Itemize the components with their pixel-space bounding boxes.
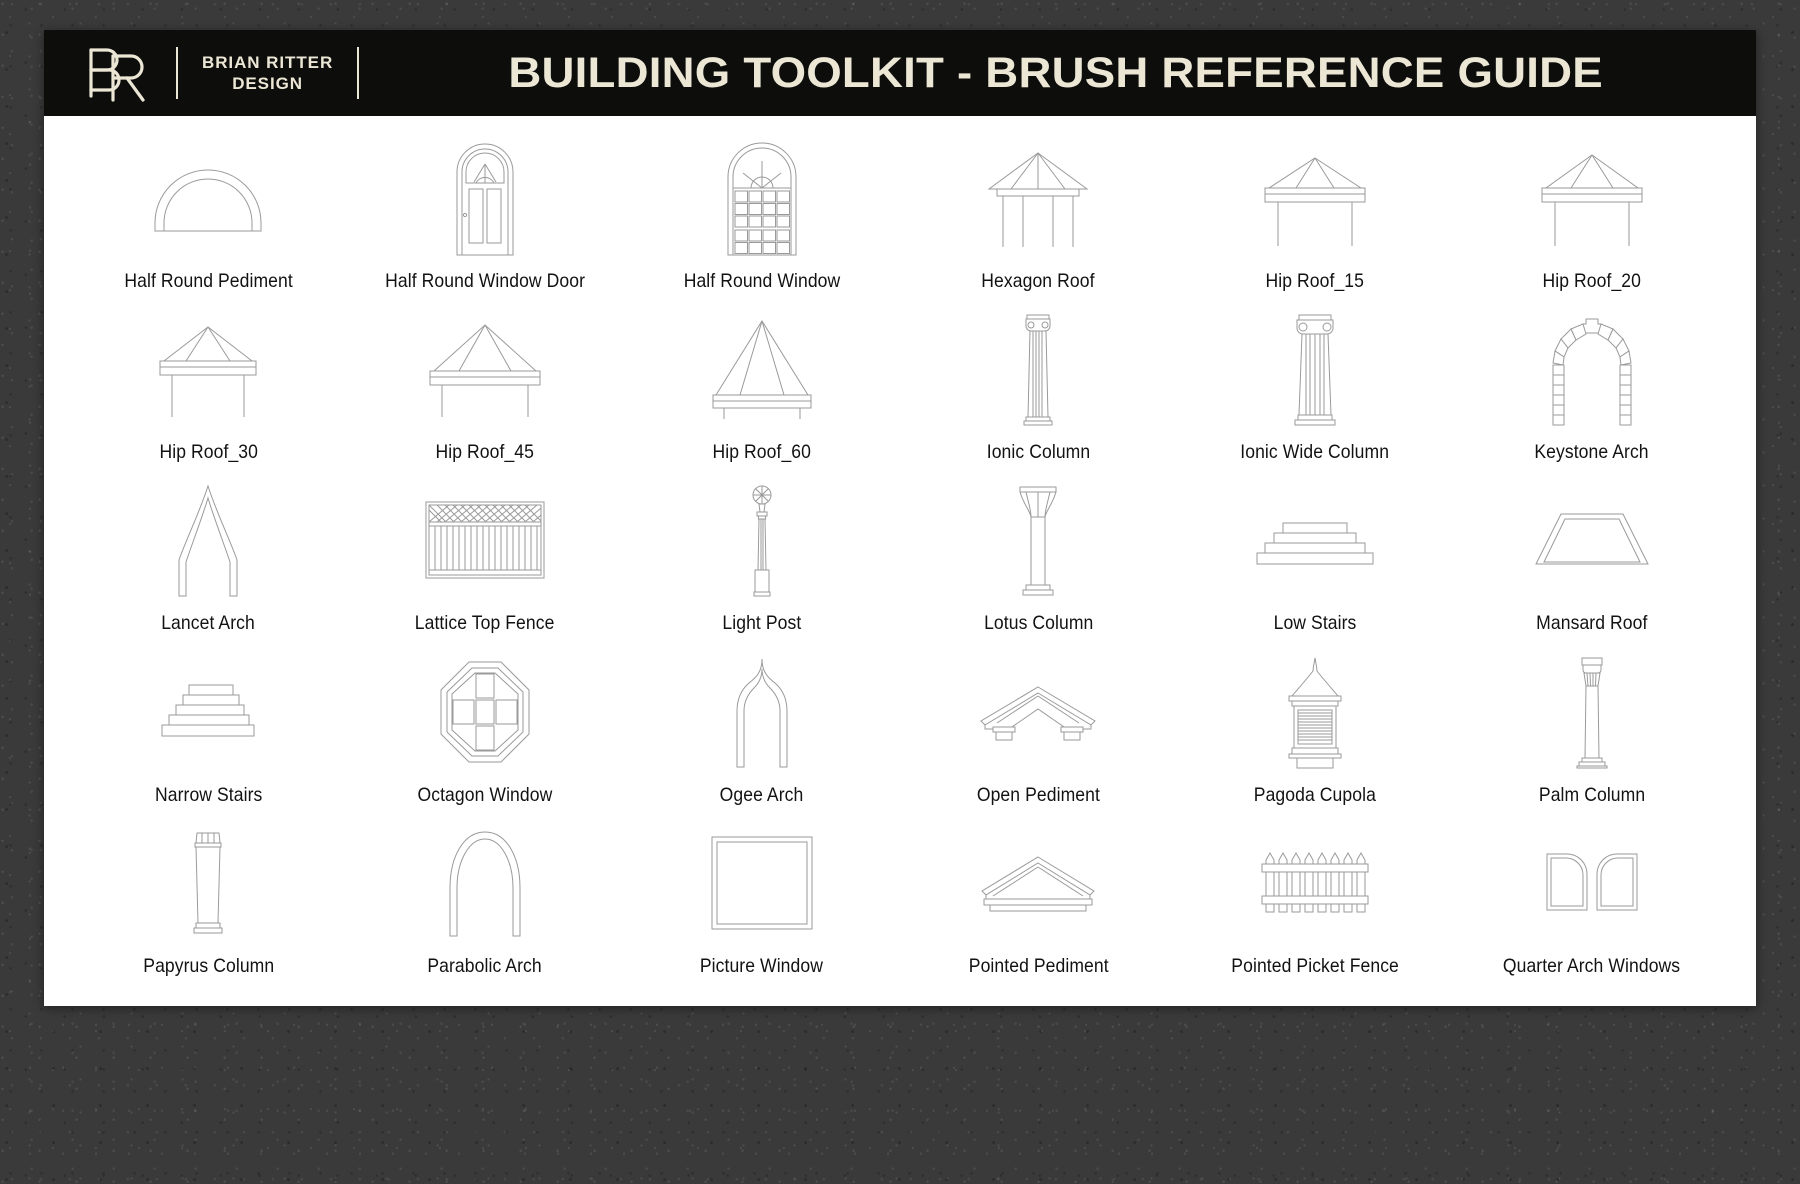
brush-item-mansard-roof[interactable]: Mansard Roof — [1453, 476, 1730, 647]
keystone-arch-icon — [1453, 311, 1730, 427]
brand-line-2: DESIGN — [202, 73, 333, 94]
brush-item-hexagon-roof[interactable]: Hexagon Roof — [900, 134, 1177, 305]
brush-label: Lotus Column — [984, 612, 1093, 635]
brd-monogram-icon — [80, 42, 152, 104]
brush-label: Picture Window — [700, 955, 823, 978]
brush-item-light-post[interactable]: Light Post — [623, 476, 900, 647]
header-bar: BRIAN RITTER DESIGN BUILDING TOOLKIT - B… — [44, 30, 1756, 116]
lotus-column-icon — [900, 482, 1177, 598]
low-stairs-icon — [1177, 482, 1454, 598]
brush-label: Pointed Picket Fence — [1231, 955, 1399, 978]
quarter-arch-windows-icon — [1453, 825, 1730, 941]
brush-label: Hip Roof_15 — [1266, 270, 1365, 293]
brush-item-hip-roof-45[interactable]: Hip Roof_45 — [347, 305, 624, 476]
brush-item-lattice-top-fence[interactable]: Lattice Top Fence — [347, 476, 624, 647]
hip-roof-45-icon — [347, 311, 624, 427]
brush-item-ionic-column[interactable]: Ionic Column — [900, 305, 1177, 476]
half-round-window-icon — [623, 140, 900, 256]
header-divider-1 — [176, 47, 178, 99]
brush-label: Lattice Top Fence — [415, 612, 555, 635]
brush-label: Half Round Window Door — [385, 270, 585, 293]
brush-item-hip-roof-15[interactable]: Hip Roof_15 — [1177, 134, 1454, 305]
brush-label: Quarter Arch Windows — [1503, 955, 1680, 978]
brush-item-octagon-window[interactable]: Octagon Window — [347, 648, 624, 819]
brush-label: Low Stairs — [1274, 612, 1357, 635]
palm-column-icon — [1453, 654, 1730, 770]
brush-item-ogee-arch[interactable]: Ogee Arch — [623, 648, 900, 819]
half-round-window-door-icon — [347, 140, 624, 256]
hip-roof-15-icon — [1177, 140, 1454, 256]
brush-label: Ogee Arch — [720, 784, 804, 807]
brush-item-half-round-window[interactable]: Half Round Window — [623, 134, 900, 305]
reference-sheet: BRIAN RITTER DESIGN BUILDING TOOLKIT - B… — [44, 30, 1756, 1006]
brand-wordmark: BRIAN RITTER DESIGN — [202, 52, 333, 95]
ogee-arch-icon — [623, 654, 900, 770]
brush-label: Ionic Column — [987, 441, 1090, 464]
brush-item-palm-column[interactable]: Palm Column — [1453, 648, 1730, 819]
brush-item-lotus-column[interactable]: Lotus Column — [900, 476, 1177, 647]
brush-grid: Half Round Pediment Half Round Window Do… — [44, 116, 1756, 1006]
brush-item-pointed-picket-fence[interactable]: Pointed Picket Fence — [1177, 819, 1454, 990]
page-title: BUILDING TOOLKIT - BRUSH REFERENCE GUIDE — [342, 49, 1756, 98]
brush-item-half-round-pediment[interactable]: Half Round Pediment — [70, 134, 347, 305]
brush-item-pagoda-cupola[interactable]: Pagoda Cupola — [1177, 648, 1454, 819]
hip-roof-30-icon — [70, 311, 347, 427]
open-pediment-icon — [900, 654, 1177, 770]
brush-item-picture-window[interactable]: Picture Window — [623, 819, 900, 990]
parabolic-arch-icon — [347, 825, 624, 941]
narrow-stairs-icon — [70, 654, 347, 770]
lancet-arch-icon — [70, 482, 347, 598]
brush-item-hip-roof-20[interactable]: Hip Roof_20 — [1453, 134, 1730, 305]
pagoda-cupola-icon — [1177, 654, 1454, 770]
brush-label: Keystone Arch — [1534, 441, 1648, 464]
pointed-pediment-icon — [900, 825, 1177, 941]
hexagon-roof-icon — [900, 140, 1177, 256]
brush-label: Hip Roof_60 — [712, 441, 811, 464]
brush-label: Ionic Wide Column — [1241, 441, 1390, 464]
brush-label: Lancet Arch — [162, 612, 256, 635]
brush-label: Parabolic Arch — [428, 955, 542, 978]
octagon-window-icon — [347, 654, 624, 770]
brush-label: Hexagon Roof — [982, 270, 1095, 293]
light-post-icon — [623, 482, 900, 598]
brush-item-lancet-arch[interactable]: Lancet Arch — [70, 476, 347, 647]
brush-label: Half Round Pediment — [124, 270, 292, 293]
brush-item-narrow-stairs[interactable]: Narrow Stairs — [70, 648, 347, 819]
brush-label: Pointed Pediment — [968, 955, 1108, 978]
ionic-column-icon — [900, 311, 1177, 427]
brush-label: Open Pediment — [977, 784, 1100, 807]
half-round-pediment-icon — [70, 140, 347, 256]
brand-line-1: BRIAN RITTER — [202, 52, 333, 73]
brush-label: Light Post — [722, 612, 801, 635]
brush-item-parabolic-arch[interactable]: Parabolic Arch — [347, 819, 624, 990]
brush-label: Narrow Stairs — [155, 784, 262, 807]
brush-label: Half Round Window — [683, 270, 840, 293]
brush-item-keystone-arch[interactable]: Keystone Arch — [1453, 305, 1730, 476]
brush-label: Hip Roof_30 — [159, 441, 258, 464]
brush-item-hip-roof-30[interactable]: Hip Roof_30 — [70, 305, 347, 476]
ionic-wide-column-icon — [1177, 311, 1454, 427]
brush-item-half-round-window-door[interactable]: Half Round Window Door — [347, 134, 624, 305]
lattice-top-fence-icon — [347, 482, 624, 598]
brush-label: Mansard Roof — [1536, 612, 1647, 635]
brush-item-low-stairs[interactable]: Low Stairs — [1177, 476, 1454, 647]
hip-roof-20-icon — [1453, 140, 1730, 256]
brush-label: Hip Roof_45 — [436, 441, 535, 464]
brush-item-quarter-arch-windows[interactable]: Quarter Arch Windows — [1453, 819, 1730, 990]
brush-label: Papyrus Column — [143, 955, 274, 978]
brush-label: Hip Roof_20 — [1542, 270, 1641, 293]
brush-item-pointed-pediment[interactable]: Pointed Pediment — [900, 819, 1177, 990]
brush-label: Palm Column — [1539, 784, 1645, 807]
brush-item-papyrus-column[interactable]: Papyrus Column — [70, 819, 347, 990]
brush-label: Pagoda Cupola — [1254, 784, 1376, 807]
hip-roof-60-icon — [623, 311, 900, 427]
pointed-picket-fence-icon — [1177, 825, 1454, 941]
picture-window-icon — [623, 825, 900, 941]
brush-item-ionic-wide-column[interactable]: Ionic Wide Column — [1177, 305, 1454, 476]
brush-item-open-pediment[interactable]: Open Pediment — [900, 648, 1177, 819]
mansard-roof-icon — [1453, 482, 1730, 598]
brush-item-hip-roof-60[interactable]: Hip Roof_60 — [623, 305, 900, 476]
brush-label: Octagon Window — [418, 784, 553, 807]
papyrus-column-icon — [70, 825, 347, 941]
